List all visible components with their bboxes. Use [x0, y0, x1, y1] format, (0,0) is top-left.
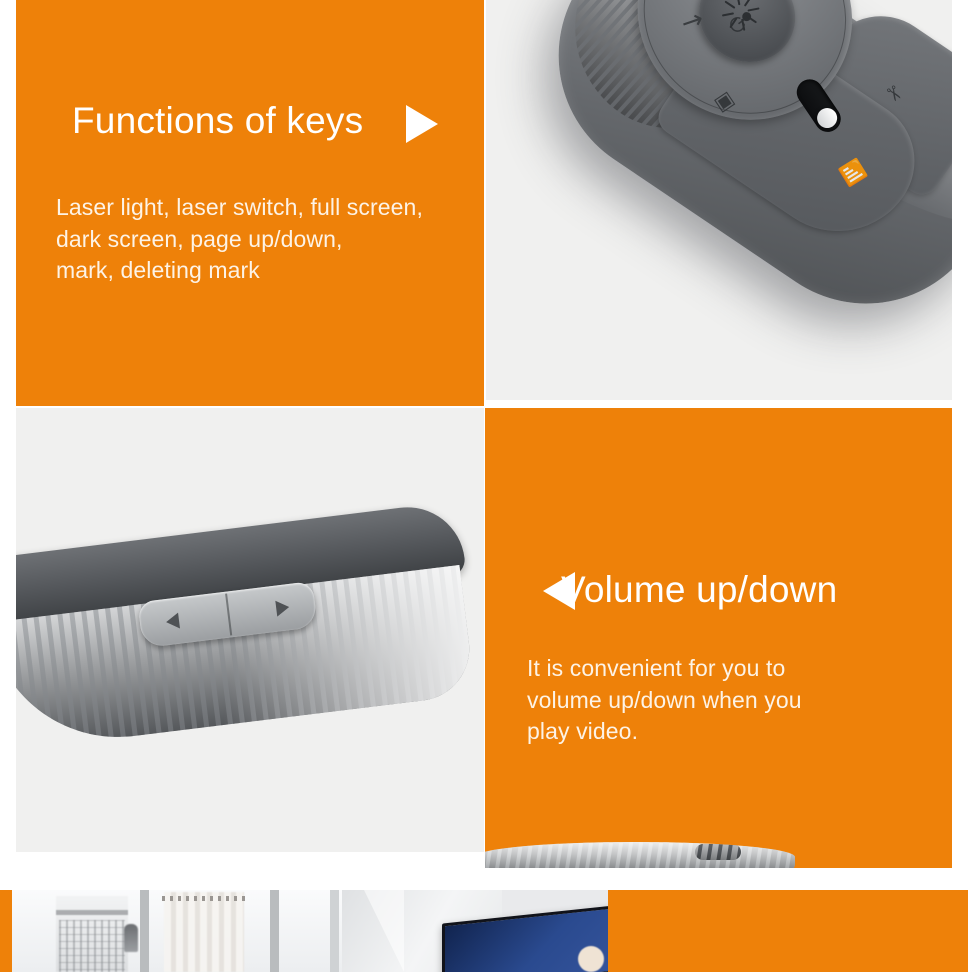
grip-rib	[768, 842, 780, 868]
grip-rib	[668, 842, 680, 868]
city-tower	[56, 896, 128, 972]
curtain-rail	[162, 896, 246, 901]
panel-device-side-view	[16, 408, 484, 852]
grip-rib	[508, 842, 520, 868]
functions-body: Laser light, laser switch, full screen, …	[56, 192, 484, 287]
sunburst-ray	[736, 0, 740, 5]
grip-rib	[488, 842, 500, 868]
device-side-photo	[16, 408, 484, 852]
volume-body-line-3: play video.	[527, 716, 927, 748]
infographic-stage: Functions of keys Laser light, laser swi…	[0, 0, 968, 972]
grip-rib	[578, 842, 590, 868]
grip-rib	[558, 842, 570, 868]
functions-body-line-2: dark screen, page up/down,	[56, 224, 484, 256]
presenter-body-top: ↗ ↗ ‖ ⏻ ▣ ✂ 📶	[486, 0, 952, 400]
grip-rib	[588, 842, 600, 868]
grip-rib	[748, 842, 760, 868]
product-sliver	[485, 842, 795, 868]
volume-body-line-2: volume up/down when you	[527, 685, 927, 717]
sunburst-ray	[724, 1, 735, 9]
tower-band	[56, 910, 128, 915]
window-mullion-1	[140, 890, 149, 972]
rocker-divider	[225, 594, 232, 636]
grip-rib	[528, 842, 540, 868]
grip-rib	[648, 842, 660, 868]
grip-rib	[628, 842, 640, 868]
functions-headline: Functions of keys	[72, 102, 363, 139]
bottom-strip	[0, 890, 968, 972]
grip-rib	[788, 842, 795, 868]
grip-rib	[658, 842, 670, 868]
grip-rib	[598, 842, 610, 868]
grip-rib	[518, 842, 530, 868]
grip-rib	[678, 842, 690, 868]
grip-rib	[608, 842, 620, 868]
person-silhouette	[124, 924, 138, 952]
grip-rib	[568, 842, 580, 868]
tower-windows	[59, 920, 125, 972]
slider-knob	[813, 104, 841, 132]
window-mullion-3	[330, 890, 339, 972]
presenter-body-side	[16, 498, 484, 767]
volume-up-button[interactable]	[275, 599, 290, 616]
grip-rib	[548, 842, 560, 868]
sunburst-ray	[722, 12, 734, 16]
strip-orange-block	[608, 890, 968, 972]
volume-body: It is convenient for you to volume up/do…	[527, 653, 927, 748]
curtain	[164, 892, 244, 972]
volume-headline: Volume up/down	[561, 571, 837, 608]
volume-down-button[interactable]	[165, 613, 180, 630]
triangle-right-icon	[406, 105, 438, 143]
presenter-head	[578, 946, 604, 972]
grip-rib	[778, 842, 790, 868]
grip-rib	[538, 842, 550, 868]
functions-body-line-1: Laser light, laser switch, full screen,	[56, 192, 484, 224]
office-scene-photo	[12, 890, 608, 972]
grip-rib	[638, 842, 650, 868]
window-mullion-2	[270, 890, 279, 972]
device-top-photo: ↗ ↗ ‖ ⏻ ▣ ✂ 📶	[486, 0, 952, 400]
panel-device-top-view: ↗ ↗ ‖ ⏻ ▣ ✂ 📶	[486, 0, 952, 400]
grip-rib	[498, 842, 510, 868]
panel-volume-up-down: Volume up/down It is convenient for you …	[485, 408, 952, 868]
sunburst-ray	[744, 0, 752, 7]
volume-body-line-1: It is convenient for you to	[527, 653, 927, 685]
panel-functions-of-keys: Functions of keys Laser light, laser swi…	[16, 0, 484, 406]
grip-rib	[758, 842, 770, 868]
sunburst-ray	[747, 7, 759, 11]
grip-rib	[618, 842, 630, 868]
functions-body-line-3: mark, deleting mark	[56, 255, 484, 287]
